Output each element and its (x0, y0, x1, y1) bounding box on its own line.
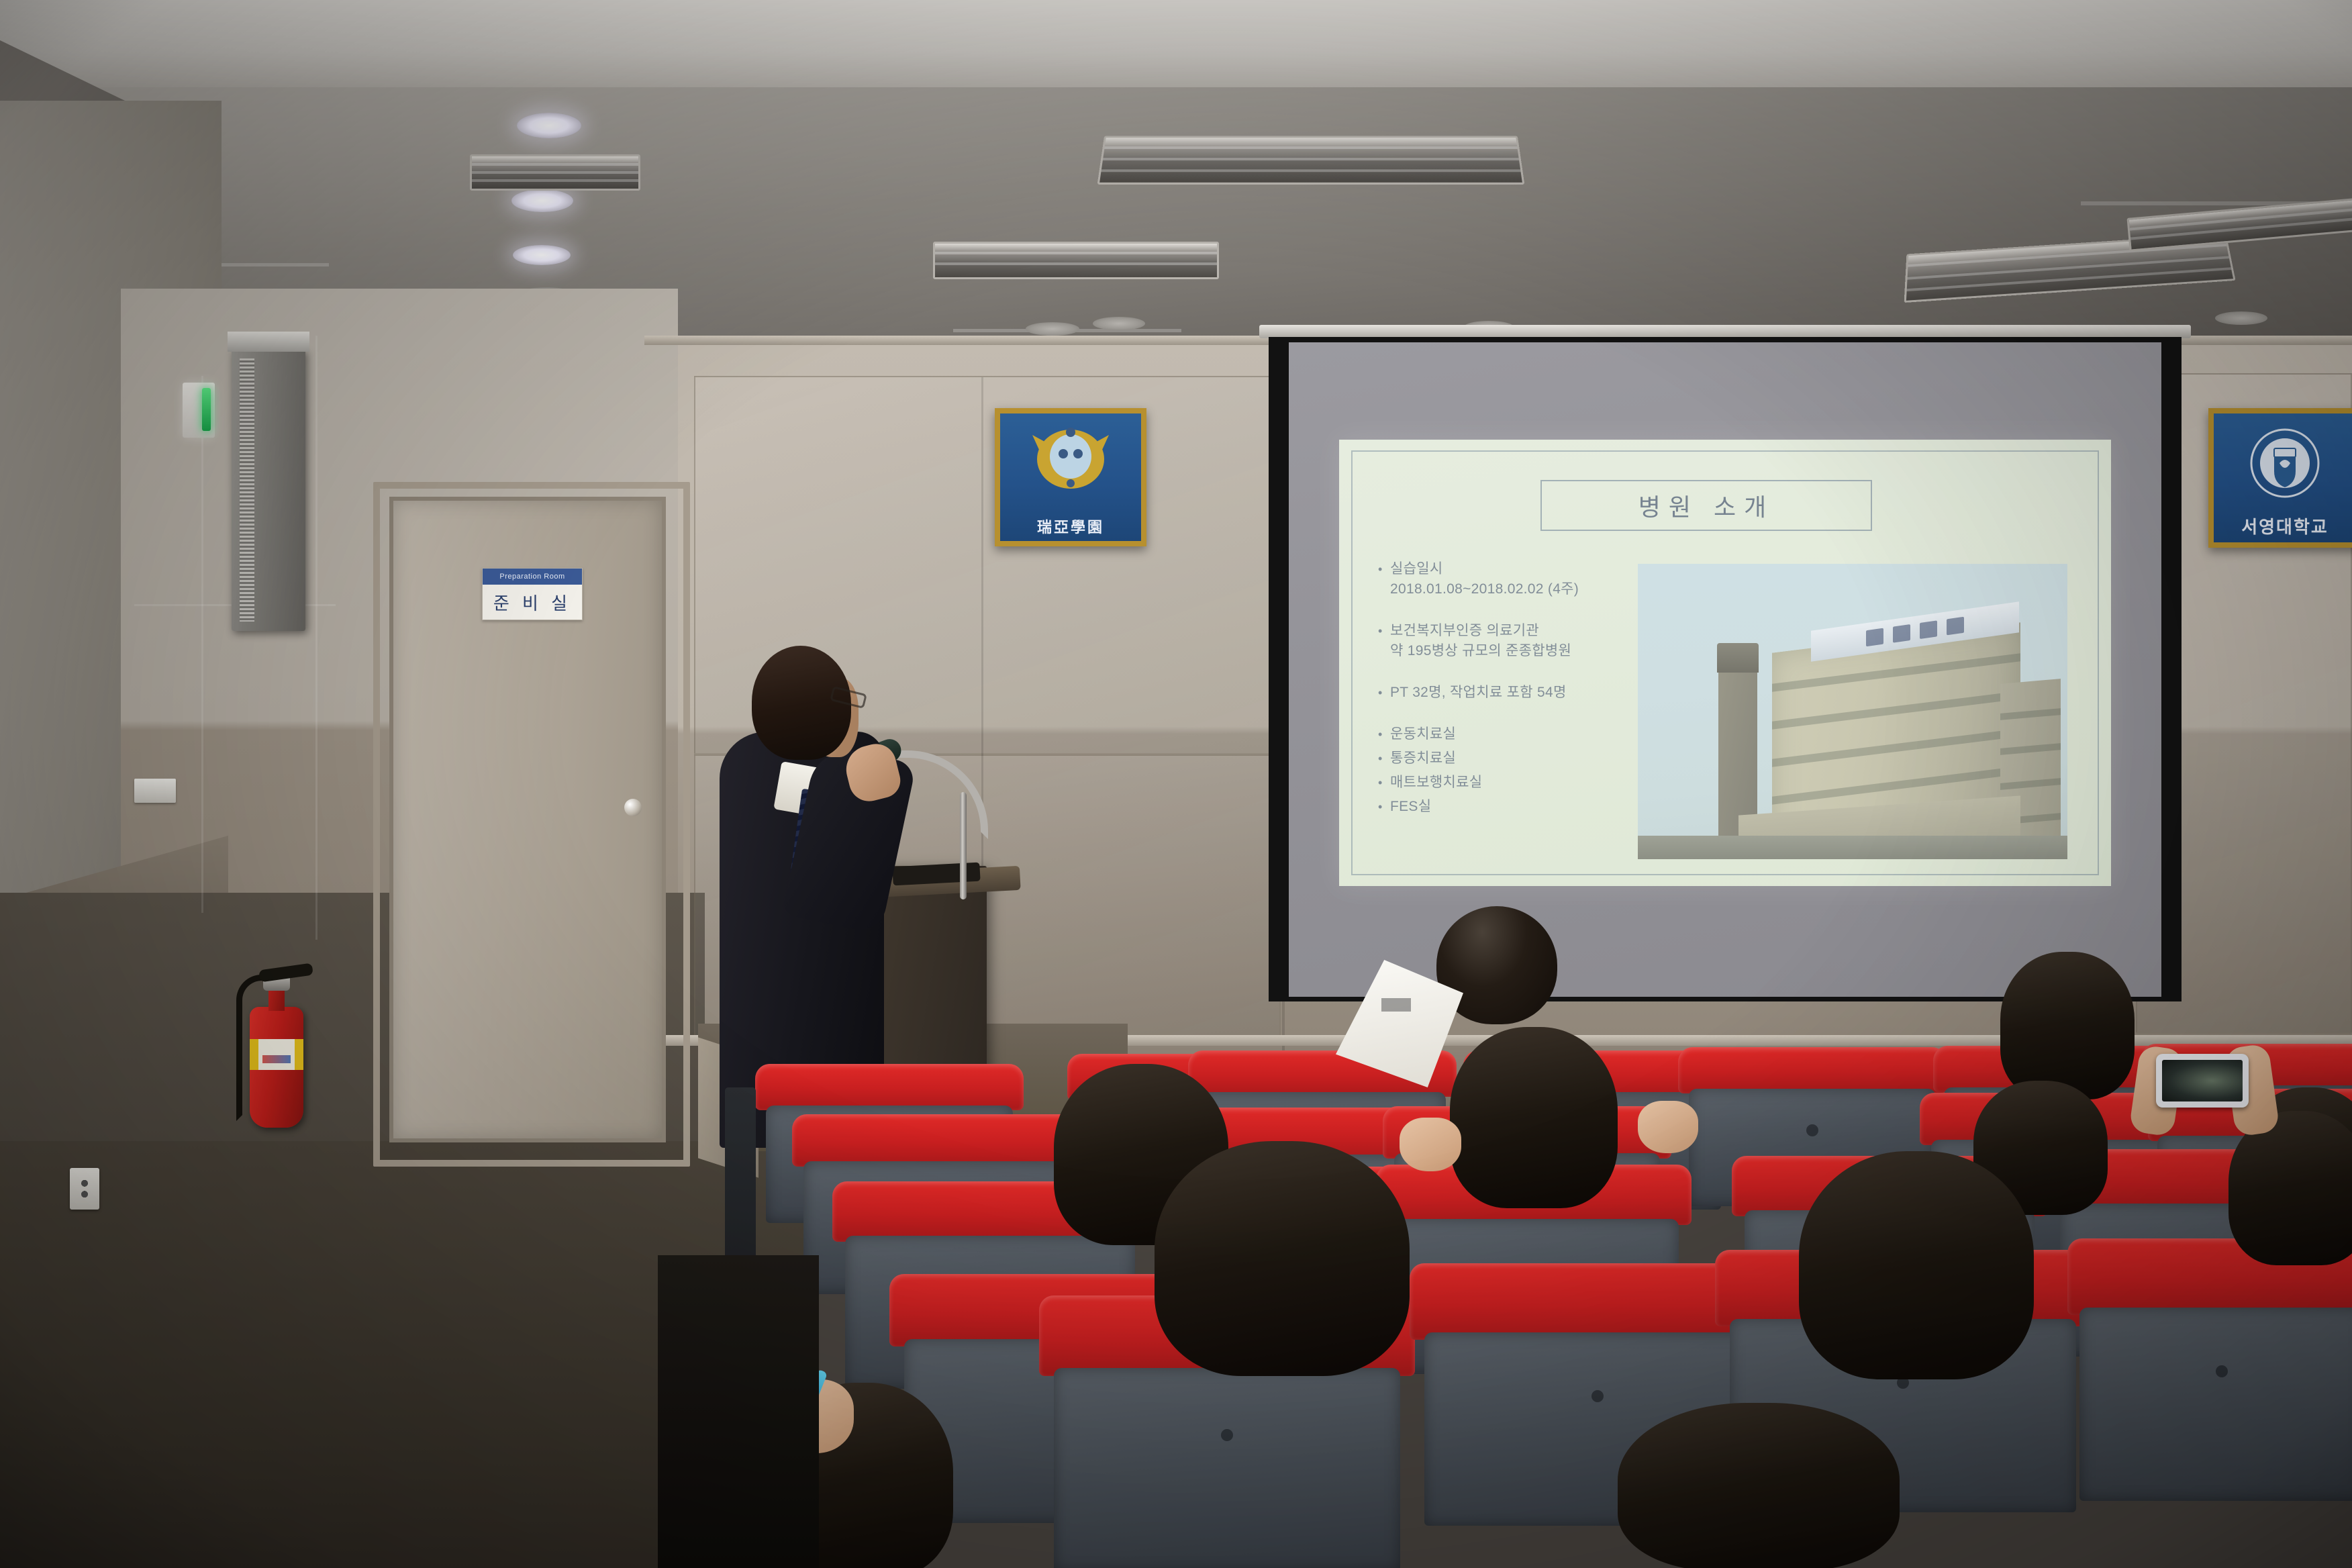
door-sign-korean: 준 비 실 (483, 585, 582, 620)
audience-head (1618, 1403, 1900, 1568)
air-vent (1097, 136, 1525, 184)
ceiling-downlight (517, 113, 581, 138)
slide-bullet-text: PT 32명, 작업치료 포함 54명 (1390, 683, 1567, 703)
presenter-head (752, 646, 851, 760)
university-plaque-label: 서영대학교 (2214, 513, 2352, 538)
screen-roller-bar (1259, 325, 2191, 338)
wall-switch-plate[interactable] (134, 779, 176, 803)
bullet-marker-icon: • (1378, 559, 1390, 599)
ceiling-downlight-off (2215, 311, 2267, 325)
foundation-plaque-label: 瑞亞學園 (1000, 516, 1141, 537)
audience-hand (1400, 1118, 1461, 1171)
slide-bullet: •통증치료실 (1378, 748, 1633, 769)
wall-seam (315, 336, 317, 940)
slide-title: 병원 소개 (1638, 488, 1774, 523)
ceiling-downlight (511, 189, 573, 212)
air-vent (933, 242, 1219, 279)
speaker-grille (240, 358, 254, 622)
foreground-shadow (658, 1255, 819, 1568)
slide-bullet-text: 운동치료실 (1390, 724, 1456, 744)
building-tower-cap (1717, 643, 1759, 673)
audience-hand (1638, 1101, 1698, 1153)
extinguisher-label (250, 1039, 303, 1070)
ceiling-front-bulkhead (0, 0, 2352, 87)
university-plaque: 서영대학교 (2208, 408, 2352, 548)
slide-bullet-text: 보건복지부인증 의료기관 약 195병상 규모의 준종합병원 (1390, 621, 1571, 661)
slide-bullet: •보건복지부인증 의료기관 약 195병상 규모의 준종합병원 (1378, 621, 1633, 661)
air-vent (470, 154, 640, 191)
door-handle[interactable] (624, 799, 642, 816)
slide-bullet: •운동치료실 (1378, 724, 1633, 744)
bullet-marker-icon: • (1378, 773, 1390, 793)
wall-seam (201, 376, 203, 913)
column-loudspeaker (232, 349, 305, 631)
audience-head (1450, 1027, 1618, 1208)
slide-bullet: •FES실 (1378, 797, 1633, 817)
bullet-marker-icon: • (1378, 724, 1390, 744)
slide-bullet: •PT 32명, 작업치료 포함 54명 (1378, 683, 1633, 703)
speaker-mount-bracket (228, 332, 309, 352)
bullet-marker-icon: • (1378, 621, 1390, 661)
slide-bullet-text: 매트보행치료실 (1390, 773, 1482, 793)
bullet-marker-icon: • (1378, 797, 1390, 817)
door-sign-english: Preparation Room (483, 569, 582, 585)
slide-bullet-list: •실습일시 2018.01.08~2018.02.02 (4주)•보건복지부인증… (1378, 559, 1633, 821)
ceiling-downlight (513, 245, 571, 265)
slide-bullet-text: 통증치료실 (1390, 748, 1456, 769)
wall-outlet[interactable] (70, 1168, 99, 1210)
ceiling-downlight-off (1026, 322, 1079, 336)
foundation-emblem-icon (1031, 423, 1110, 498)
emergency-exit-light-icon (183, 383, 215, 438)
slide-hospital-photo (1638, 564, 2067, 859)
university-crest-icon (2245, 424, 2325, 503)
auditorium-seat[interactable] (2067, 1238, 2352, 1493)
lecture-hall-scene: Preparation Room 준 비 실 瑞亞學園 서영대학교 (0, 0, 2352, 1568)
audience-head (1799, 1151, 2034, 1379)
bullet-marker-icon: • (1378, 683, 1390, 703)
ceiling-downlight-off (1093, 317, 1145, 330)
slide-title-box: 병원 소개 (1540, 480, 1872, 531)
door-sign: Preparation Room 준 비 실 (482, 568, 583, 620)
slide-bullet-text: 실습일시 2018.01.08~2018.02.02 (4주) (1390, 559, 1579, 599)
phone-screen (2162, 1060, 2243, 1101)
foundation-plaque: 瑞亞學園 (995, 408, 1146, 546)
bullet-marker-icon: • (1378, 748, 1390, 769)
audience-head (1155, 1141, 1410, 1376)
projected-slide: 병원 소개 •실습일시 2018.01.08~2018.02.02 (4주)•보… (1339, 440, 2111, 886)
slide-bullet: •실습일시 2018.01.08~2018.02.02 (4주) (1378, 559, 1633, 599)
slide-bullet-text: FES실 (1390, 797, 1431, 817)
slide-bullet: •매트보행치료실 (1378, 773, 1633, 793)
audience-head (2000, 952, 2135, 1099)
building-ground-level (1638, 836, 2067, 859)
smartphone[interactable] (2156, 1054, 2249, 1108)
